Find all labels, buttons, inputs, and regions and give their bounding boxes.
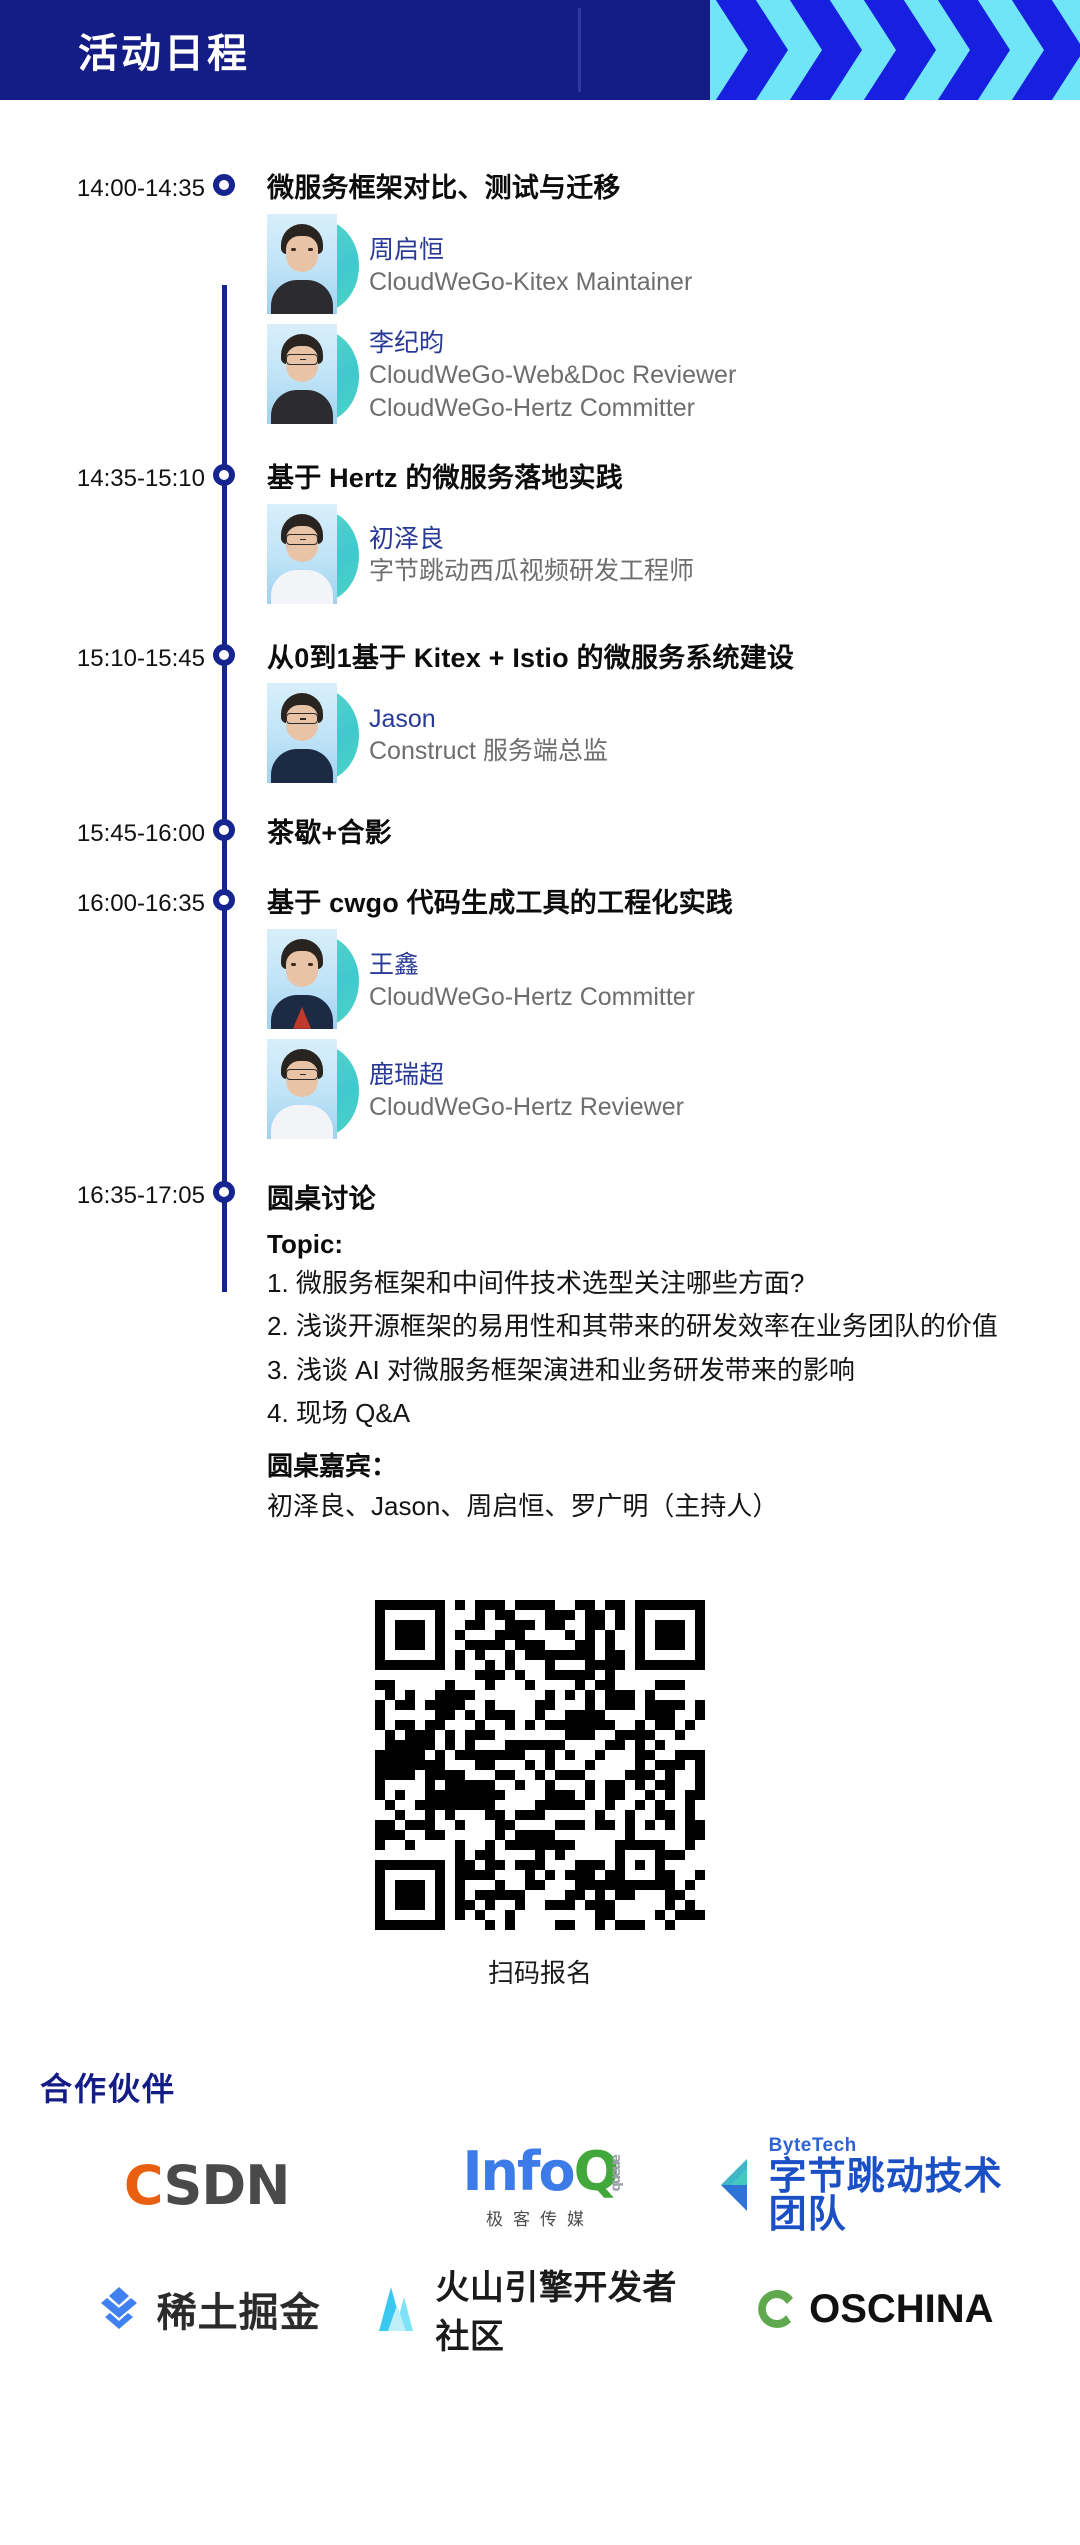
qr-section: 扫码报名 bbox=[0, 1600, 1080, 1990]
timeline-dot-icon bbox=[213, 819, 235, 841]
juejin-chevron-icon bbox=[93, 2285, 145, 2333]
session-title: 茶歇+合影 bbox=[267, 817, 1060, 851]
partner-logo-juejin[interactable]: 稀土掘金 bbox=[40, 2280, 373, 2338]
page-title: 活动日程 bbox=[78, 21, 250, 79]
partner-logo-oschina[interactable]: OSCHINA bbox=[707, 2285, 1040, 2333]
partner-logo-bytetech[interactable]: ByteTech 字节跳动技术团队 bbox=[707, 2136, 1040, 2234]
speaker-item: 鹿瑞超 CloudWeGo-Hertz Reviewer bbox=[267, 1039, 1060, 1143]
partner-logo-volcengine[interactable]: 火山引擎开发者社区 bbox=[373, 2260, 706, 2358]
qr-caption: 扫码报名 bbox=[0, 1953, 1080, 1990]
roundtable-content: 圆桌讨论 Topic: 1. 微服务框架和中间件技术选型关注哪些方面? 2. 浅… bbox=[243, 1183, 1080, 1526]
session-time: 14:00-14:35 bbox=[0, 172, 205, 202]
speaker-item: 李纪昀 CloudWeGo-Web&Doc Reviewer CloudWeGo… bbox=[267, 324, 1060, 428]
session-title: 基于 Hertz 的微服务落地实践 bbox=[267, 462, 1060, 496]
speaker-item: 王鑫 CloudWeGo-Hertz Committer bbox=[267, 929, 1060, 1033]
speaker-name: 王鑫 bbox=[369, 949, 695, 981]
timeline-marker bbox=[205, 887, 243, 911]
oschina-logo: OSCHINA bbox=[753, 2285, 993, 2333]
chevron-decoration bbox=[710, 0, 1080, 100]
qr-code-image bbox=[375, 1600, 705, 1930]
avatar bbox=[267, 504, 353, 608]
speaker-name: Jason bbox=[369, 703, 608, 735]
agenda-row-roundtable: 16:35-17:05 圆桌讨论 Topic: 1. 微服务框架和中间件技术选型… bbox=[0, 1179, 1080, 1526]
speaker-role: CloudWeGo-Hertz Committer bbox=[369, 392, 736, 425]
speaker-item: 周启恒 CloudWeGo-Kitex Maintainer bbox=[267, 214, 1060, 318]
timeline-dot-icon bbox=[213, 889, 235, 911]
session-time: 15:10-15:45 bbox=[0, 642, 205, 672]
volcengine-logo: 火山引擎开发者社区 bbox=[373, 2260, 706, 2358]
agenda-row: 16:00-16:35 基于 cwgo 代码生成工具的工程化实践 王鑫 bbox=[0, 887, 1080, 1143]
timeline-marker bbox=[205, 1179, 243, 1203]
avatar bbox=[267, 1039, 353, 1143]
session-content: 基于 cwgo 代码生成工具的工程化实践 王鑫 CloudWeGo-Hertz … bbox=[243, 887, 1080, 1143]
avatar-photo bbox=[267, 683, 337, 783]
session-title: 从0到1基于 Kitex + Istio 的微服务系统建设 bbox=[267, 642, 1060, 676]
session-title: 微服务框架对比、测试与迁移 bbox=[267, 172, 1060, 206]
speaker-role: Construct 服务端总监 bbox=[369, 735, 608, 768]
session-title: 圆桌讨论 bbox=[267, 1183, 1060, 1217]
agenda-timeline: 14:00-14:35 微服务框架对比、测试与迁移 周启恒 CloudWeGo-… bbox=[0, 100, 1080, 1526]
avatar-photo bbox=[267, 504, 337, 604]
timeline-dot-icon bbox=[213, 174, 235, 196]
avatar-photo bbox=[267, 1039, 337, 1139]
speaker-role: CloudWeGo-Hertz Reviewer bbox=[369, 1091, 684, 1124]
topic-item: 3. 浅谈 AI 对微服务框架演进和业务研发带来的影响 bbox=[267, 1351, 1060, 1391]
timeline-dot-icon bbox=[213, 644, 235, 666]
header-divider bbox=[578, 8, 581, 92]
volcengine-text: 火山引擎开发者社区 bbox=[435, 2260, 706, 2358]
partner-logo-row: 稀土掘金 火山引擎开发者社区 OSCHINA bbox=[40, 2260, 1040, 2358]
timeline-marker bbox=[205, 172, 243, 196]
speaker-text: Jason Construct 服务端总监 bbox=[369, 703, 608, 768]
infoq-subtitle: 极客传媒 bbox=[462, 2205, 617, 2230]
timeline-marker bbox=[205, 462, 243, 486]
speaker-list: 王鑫 CloudWeGo-Hertz Committer 鹿瑞超 bbox=[267, 929, 1060, 1143]
session-title: 基于 cwgo 代码生成工具的工程化实践 bbox=[267, 887, 1060, 921]
session-time: 16:00-16:35 bbox=[0, 887, 205, 917]
speaker-list: 初泽良 字节跳动西瓜视频研发工程师 bbox=[267, 504, 1060, 608]
timeline-marker bbox=[205, 642, 243, 666]
speaker-text: 鹿瑞超 CloudWeGo-Hertz Reviewer bbox=[369, 1059, 684, 1124]
speaker-list: Jason Construct 服务端总监 bbox=[267, 683, 1060, 787]
speaker-text: 李纪昀 CloudWeGo-Web&Doc Reviewer CloudWeGo… bbox=[369, 327, 736, 424]
session-content: 从0到1基于 Kitex + Istio 的微服务系统建设 Jason Cons… bbox=[243, 642, 1080, 788]
session-content: 基于 Hertz 的微服务落地实践 初泽良 字节跳动西瓜视频研发工程师 bbox=[243, 462, 1080, 608]
juejin-text: 稀土掘金 bbox=[157, 2280, 321, 2338]
speaker-item: 初泽良 字节跳动西瓜视频研发工程师 bbox=[267, 504, 1060, 608]
agenda-row: 15:10-15:45 从0到1基于 Kitex + Istio 的微服务系统建… bbox=[0, 642, 1080, 788]
speaker-name: 初泽良 bbox=[369, 523, 694, 555]
speaker-role: CloudWeGo-Kitex Maintainer bbox=[369, 266, 692, 299]
agenda-row: 15:45-16:00 茶歇+合影 bbox=[0, 817, 1080, 851]
oschina-c-icon bbox=[753, 2285, 801, 2333]
avatar-photo bbox=[267, 929, 337, 1029]
topic-label: Topic: bbox=[267, 1229, 1060, 1260]
csdn-logo: CSDN bbox=[124, 2154, 290, 2217]
session-content: 微服务框架对比、测试与迁移 周启恒 CloudWeGo-Kitex Mainta… bbox=[243, 172, 1080, 428]
partners-title: 合作伙伴 bbox=[40, 2064, 1040, 2110]
infoq-logo: InfoQqueue 极客传媒 bbox=[462, 2140, 617, 2230]
speaker-text: 周启恒 CloudWeGo-Kitex Maintainer bbox=[369, 234, 692, 299]
avatar bbox=[267, 683, 353, 787]
agenda-row: 14:35-15:10 基于 Hertz 的微服务落地实践 初泽良 字节跳动西瓜… bbox=[0, 462, 1080, 608]
avatar bbox=[267, 324, 353, 428]
session-time: 15:45-16:00 bbox=[0, 817, 205, 847]
partner-logo-infoq[interactable]: InfoQqueue 极客传媒 bbox=[373, 2140, 706, 2230]
topic-item: 4. 现场 Q&A bbox=[267, 1394, 1060, 1434]
page-header: 活动日程 bbox=[0, 0, 1080, 100]
timeline-dot-icon bbox=[213, 464, 235, 486]
topic-item: 2. 浅谈开源框架的易用性和其带来的研发效率在业务团队的价值 bbox=[267, 1307, 1060, 1347]
volcano-peaks-icon bbox=[373, 2283, 425, 2335]
avatar bbox=[267, 929, 353, 1033]
bytetech-en: ByteTech bbox=[769, 2136, 1040, 2155]
partner-logo-csdn[interactable]: CSDN bbox=[40, 2154, 373, 2217]
timeline-marker bbox=[205, 817, 243, 841]
speaker-name: 周启恒 bbox=[369, 234, 692, 266]
oschina-text: OSCHINA bbox=[809, 2287, 993, 2332]
partners-section: 合作伙伴 CSDN InfoQqueue 极客传媒 ByteTech 字节跳动技… bbox=[0, 2064, 1080, 2388]
agenda-row: 14:00-14:35 微服务框架对比、测试与迁移 周启恒 CloudWeGo-… bbox=[0, 172, 1080, 428]
guests-label: 圆桌嘉宾： bbox=[267, 1446, 1060, 1483]
avatar-photo bbox=[267, 214, 337, 314]
speaker-role: CloudWeGo-Web&Doc Reviewer bbox=[369, 359, 736, 392]
bytetech-logo: ByteTech 字节跳动技术团队 bbox=[707, 2136, 1040, 2234]
session-time: 14:35-15:10 bbox=[0, 462, 205, 492]
session-content: 茶歇+合影 bbox=[243, 817, 1080, 851]
speaker-name: 鹿瑞超 bbox=[369, 1059, 684, 1091]
topic-item: 1. 微服务框架和中间件技术选型关注哪些方面? bbox=[267, 1264, 1060, 1304]
guests-list: 初泽良、Jason、周启恒、罗广明（主持人） bbox=[267, 1487, 1060, 1527]
speaker-text: 初泽良 字节跳动西瓜视频研发工程师 bbox=[369, 523, 694, 588]
partner-logo-row: CSDN InfoQqueue 极客传媒 ByteTech 字节跳动技术团队 bbox=[40, 2136, 1040, 2234]
bytetech-arrow-icon bbox=[707, 2157, 759, 2213]
timeline-dot-icon bbox=[213, 1181, 235, 1203]
speaker-name: 李纪昀 bbox=[369, 327, 736, 359]
speaker-list: 周启恒 CloudWeGo-Kitex Maintainer 李纪昀 bbox=[267, 214, 1060, 428]
session-time: 16:35-17:05 bbox=[0, 1179, 205, 1209]
bytetech-cn: 字节跳动技术团队 bbox=[769, 2158, 1040, 2234]
speaker-item: Jason Construct 服务端总监 bbox=[267, 683, 1060, 787]
speaker-role: 字节跳动西瓜视频研发工程师 bbox=[369, 555, 694, 588]
juejin-logo: 稀土掘金 bbox=[93, 2280, 321, 2338]
speaker-role: CloudWeGo-Hertz Committer bbox=[369, 981, 695, 1014]
avatar-photo bbox=[267, 324, 337, 424]
speaker-text: 王鑫 CloudWeGo-Hertz Committer bbox=[369, 949, 695, 1014]
avatar bbox=[267, 214, 353, 318]
